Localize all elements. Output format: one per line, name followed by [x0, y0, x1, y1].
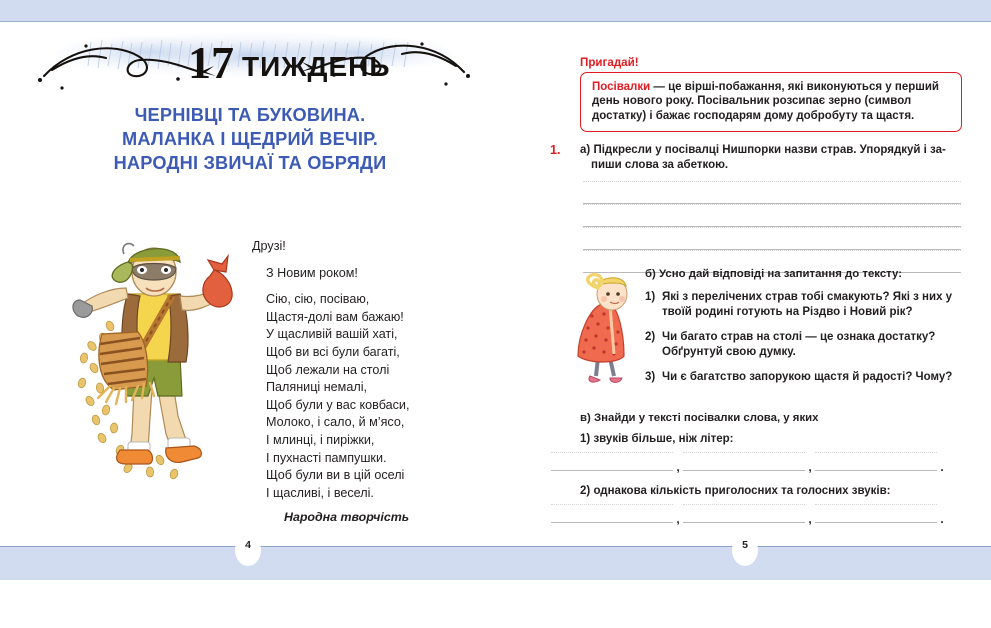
top-decorative-band [0, 0, 991, 22]
task-c-item-2-text: однакова кількість приголосних та голосн… [593, 485, 890, 497]
task-c-item-2: 2) однакова кількість приголосних та гол… [580, 485, 890, 497]
week-banner: 17 ТИЖДЕНЬ [28, 22, 480, 100]
poem-line: Щоб ви всі були багаті, [266, 344, 482, 362]
poem-line: У щасливій вашій хаті, [266, 326, 482, 344]
exercise-number: 1. [550, 143, 561, 157]
bottom-decorative-band [0, 546, 991, 580]
task-c-heading-text: Знайди у тексті посівалки слова, у яких [594, 412, 819, 424]
task-c-heading: в) Знайди у тексті посівалки слова, у як… [580, 412, 962, 424]
separator: , [805, 460, 815, 474]
question-number: 1) [645, 290, 662, 321]
task-a-continuation: пиши слова за абеткою. [580, 158, 962, 173]
poem-line: І пухнасті пампушки. [266, 450, 482, 468]
lesson-title-line-3: НАРОДНІ ЗВИЧАЇ ТА ОБРЯДИ [40, 151, 460, 175]
question-item: 2) Чи багато страв на столі — це ознака … [645, 330, 965, 361]
separator: . [937, 512, 947, 526]
recall-label: Пригадай! [580, 56, 639, 69]
task-c-answer-row-1[interactable]: , , . [551, 452, 947, 474]
lesson-title-line-1: ЧЕРНІВЦІ ТА БУКОВИНА. [40, 103, 460, 127]
lesson-title: ЧЕРНІВЦІ ТА БУКОВИНА. МАЛАНКА І ЩЕДРИЙ В… [40, 103, 460, 176]
answer-line[interactable] [583, 227, 961, 250]
task-b-heading-text: Усно дай відповіді на запитання до текст… [659, 268, 902, 280]
question-text: Які з перелічених страв тобі смакують? Я… [662, 290, 965, 321]
poem-line: І млинці, і пиріжки, [266, 432, 482, 450]
recall-keyword: Посівалки [592, 81, 650, 93]
answer-segment[interactable] [551, 452, 673, 474]
separator: . [937, 460, 947, 474]
poem-greeting: З Новим роком! [266, 265, 482, 283]
answer-segment[interactable] [815, 504, 937, 526]
separator: , [673, 512, 683, 526]
poem-block: Друзі! З Новим роком! Сію, сію, посіваю,… [252, 238, 482, 524]
question-text: Чи є багатство запорукою щастя й радості… [662, 370, 965, 385]
task-c-item-1: 1) звуків більше, ніж літер: [580, 433, 733, 445]
week-number-text: 17 [188, 37, 234, 88]
answer-line[interactable] [583, 204, 961, 227]
poem-line: Паляниці немалі, [266, 379, 482, 397]
question-number: 3) [645, 370, 662, 385]
page-number-right: 5 [732, 534, 758, 566]
girl-illustration [572, 272, 638, 388]
task-b-heading: б) Усно дай відповіді на запитання до те… [645, 268, 963, 280]
boy-sower-illustration [62, 238, 234, 506]
question-item: 3) Чи є багатство запорукою щастя й радо… [645, 370, 965, 385]
question-text: Чи багато страв на столі — це ознака дос… [662, 330, 965, 361]
separator: , [673, 460, 683, 474]
recall-box: Посівалки — це вірші-побажання, які вико… [580, 72, 962, 132]
poem-line: Щастя-долі вам бажаю! [266, 309, 482, 327]
question-number: 2) [645, 330, 662, 361]
task-c-marker: в) [580, 412, 591, 424]
answer-segment[interactable] [683, 504, 805, 526]
task-c-item-1-text: звуків більше, ніж літер: [593, 433, 733, 445]
frost-cloud-icon: 17 ТИЖДЕНЬ [28, 22, 480, 100]
question-item: 1) Які з перелічених страв тобі смакують… [645, 290, 965, 321]
task-a-body: Підкресли у посівалці Нишпорки назви стр… [593, 144, 945, 156]
poem-line: Щоб були ви в цій оселі [266, 467, 482, 485]
separator: , [805, 512, 815, 526]
task-c-item-1-number: 1) [580, 433, 590, 445]
week-word-text: ТИЖДЕНЬ [242, 51, 391, 82]
poem-salutation: Друзі! [252, 238, 482, 256]
task-a-answer-lines[interactable] [583, 181, 961, 273]
answer-segment[interactable] [815, 452, 937, 474]
task-c-answer-row-2[interactable]: , , . [551, 504, 947, 526]
task-a-text: а) Підкресли у посівалці Нишпорки назви … [580, 143, 962, 172]
page-number-left: 4 [235, 534, 261, 566]
lesson-title-line-2: МАЛАНКА І ЩЕДРИЙ ВЕЧІР. [40, 127, 460, 151]
poem-line: Щоб лежали на столі [266, 362, 482, 380]
poem-line: Молоко, і сало, й м’ясо, [266, 414, 482, 432]
poem-line: Сію, сію, посіваю, [266, 291, 482, 309]
answer-segment[interactable] [683, 452, 805, 474]
poem-line: Щоб були у вас ковбаси, [266, 397, 482, 415]
task-b-question-list: 1) Які з перелічених страв тобі смакують… [645, 290, 965, 394]
poem-line: І щасливі, і веселі. [266, 485, 482, 503]
answer-segment[interactable] [551, 504, 673, 526]
answer-line[interactable] [583, 181, 961, 204]
task-a-marker: а) [580, 144, 590, 156]
workbook-spread: 17 ТИЖДЕНЬ ЧЕРНІВЦІ ТА БУКОВИНА. МАЛАНКА… [0, 0, 991, 628]
task-b-marker: б) [645, 268, 656, 280]
task-c-item-2-number: 2) [580, 485, 590, 497]
poem-credit: Народна творчість [284, 510, 482, 524]
